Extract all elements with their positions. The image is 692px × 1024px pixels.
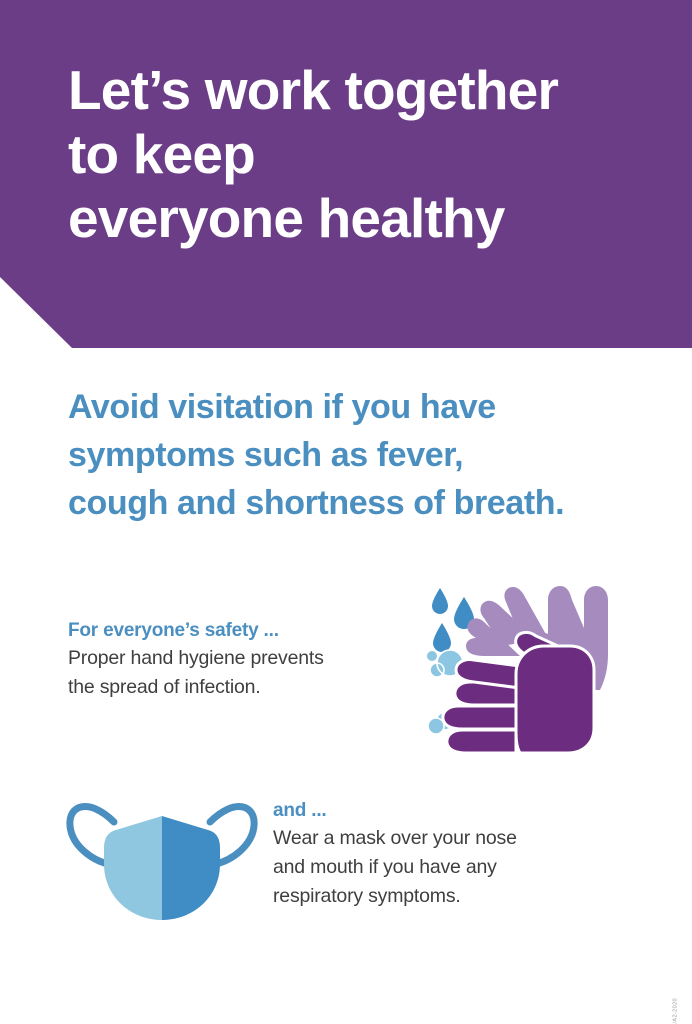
mask-right-half bbox=[162, 816, 220, 920]
section-wear-mask: and ... Wear a mask over your nose and m… bbox=[0, 780, 692, 960]
poster-page: Let’s work together to keep everyone hea… bbox=[0, 0, 692, 1024]
mask-left-half bbox=[104, 816, 162, 920]
page-title: Let’s work together to keep everyone hea… bbox=[68, 58, 668, 250]
document-code: M2778B/A2-2020 bbox=[672, 998, 678, 1024]
wear-mask-body: Wear a mask over your nose and mouth if … bbox=[273, 824, 633, 911]
front-hand-shape bbox=[443, 632, 594, 753]
face-mask-icon bbox=[62, 786, 262, 926]
hand-hygiene-eyebrow: For everyone’s safety ... bbox=[68, 618, 408, 644]
subheading: Avoid visitation if you have symptoms su… bbox=[68, 383, 668, 527]
wear-mask-text-block: and ... Wear a mask over your nose and m… bbox=[273, 798, 633, 911]
wear-mask-eyebrow: and ... bbox=[273, 798, 633, 824]
section-hand-hygiene: For everyone’s safety ... Proper hand hy… bbox=[0, 570, 692, 760]
washing-hands-icon bbox=[424, 578, 624, 753]
hand-hygiene-text-block: For everyone’s safety ... Proper hand hy… bbox=[68, 618, 408, 702]
hand-hygiene-body: Proper hand hygiene prevents the spread … bbox=[68, 644, 408, 702]
